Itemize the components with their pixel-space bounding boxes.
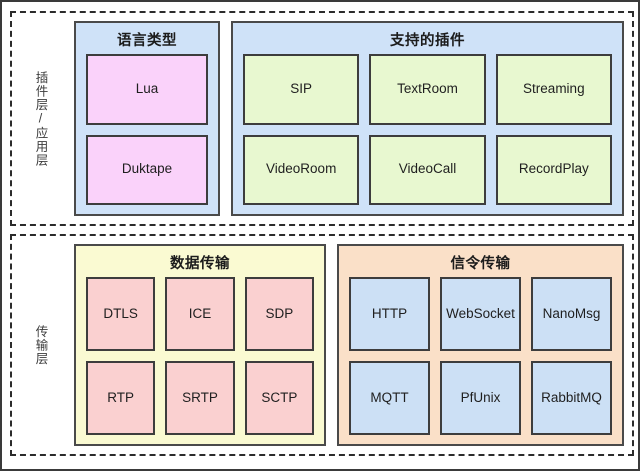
supported-plugins-row: VideoRoom VideoCall RecordPlay xyxy=(243,135,612,205)
node-videocall[interactable]: VideoCall xyxy=(369,135,485,205)
panel-signaling-transport: 信令传输 HTTP WebSocket NanoMsg MQTT PfUnix … xyxy=(337,244,624,446)
layer-label-transport: 传输层 xyxy=(12,236,70,454)
node-nanomsg[interactable]: NanoMsg xyxy=(531,277,612,351)
node-pfunix[interactable]: PfUnix xyxy=(440,361,521,435)
data-transport-row: RTP SRTP SCTP xyxy=(86,361,314,435)
panel-supported-plugins: 支持的插件 SIP TextRoom Streaming VideoRoom V… xyxy=(231,21,624,216)
node-mqtt[interactable]: MQTT xyxy=(349,361,430,435)
application-panels: 语言类型 Lua Duktape 支持的插件 SIP TextRoom xyxy=(74,21,624,216)
panel-title-language-types: 语言类型 xyxy=(86,30,208,54)
data-transport-grid: DTLS ICE SDP RTP SRTP SCTP xyxy=(86,277,314,435)
supported-plugins-grid: SIP TextRoom Streaming VideoRoom VideoCa… xyxy=(243,54,612,205)
language-types-row: Lua xyxy=(86,54,208,124)
panel-title-signaling-transport: 信令传输 xyxy=(349,253,612,277)
node-videoroom[interactable]: VideoRoom xyxy=(243,135,359,205)
transport-panels: 数据传输 DTLS ICE SDP RTP SRTP SCTP 信令传输 xyxy=(74,244,624,446)
layer-application: 插件层/应用层 语言类型 Lua Duktape 支持的插件 xyxy=(10,11,634,226)
node-textroom[interactable]: TextRoom xyxy=(369,54,485,124)
node-dtls[interactable]: DTLS xyxy=(86,277,155,351)
panel-data-transport: 数据传输 DTLS ICE SDP RTP SRTP SCTP xyxy=(74,244,326,446)
language-types-grid: Lua Duktape xyxy=(86,54,208,205)
node-http[interactable]: HTTP xyxy=(349,277,430,351)
signaling-transport-row: MQTT PfUnix RabbitMQ xyxy=(349,361,612,435)
layer-transport: 传输层 数据传输 DTLS ICE SDP RTP SRTP SCTP xyxy=(10,234,634,456)
node-sip[interactable]: SIP xyxy=(243,54,359,124)
node-lua[interactable]: Lua xyxy=(86,54,208,124)
node-recordplay[interactable]: RecordPlay xyxy=(496,135,612,205)
panel-language-types: 语言类型 Lua Duktape xyxy=(74,21,220,216)
node-sdp[interactable]: SDP xyxy=(245,277,314,351)
node-ice[interactable]: ICE xyxy=(165,277,234,351)
node-rabbitmq[interactable]: RabbitMQ xyxy=(531,361,612,435)
signaling-transport-grid: HTTP WebSocket NanoMsg MQTT PfUnix Rabbi… xyxy=(349,277,612,435)
supported-plugins-row: SIP TextRoom Streaming xyxy=(243,54,612,124)
node-sctp[interactable]: SCTP xyxy=(245,361,314,435)
panel-title-supported-plugins: 支持的插件 xyxy=(243,30,612,54)
node-duktape[interactable]: Duktape xyxy=(86,135,208,205)
architecture-diagram: 插件层/应用层 语言类型 Lua Duktape 支持的插件 xyxy=(0,0,640,471)
node-streaming[interactable]: Streaming xyxy=(496,54,612,124)
node-websocket[interactable]: WebSocket xyxy=(440,277,521,351)
node-rtp[interactable]: RTP xyxy=(86,361,155,435)
layer-label-application: 插件层/应用层 xyxy=(12,13,70,224)
language-types-row: Duktape xyxy=(86,135,208,205)
signaling-transport-row: HTTP WebSocket NanoMsg xyxy=(349,277,612,351)
data-transport-row: DTLS ICE SDP xyxy=(86,277,314,351)
node-srtp[interactable]: SRTP xyxy=(165,361,234,435)
panel-title-data-transport: 数据传输 xyxy=(86,253,314,277)
